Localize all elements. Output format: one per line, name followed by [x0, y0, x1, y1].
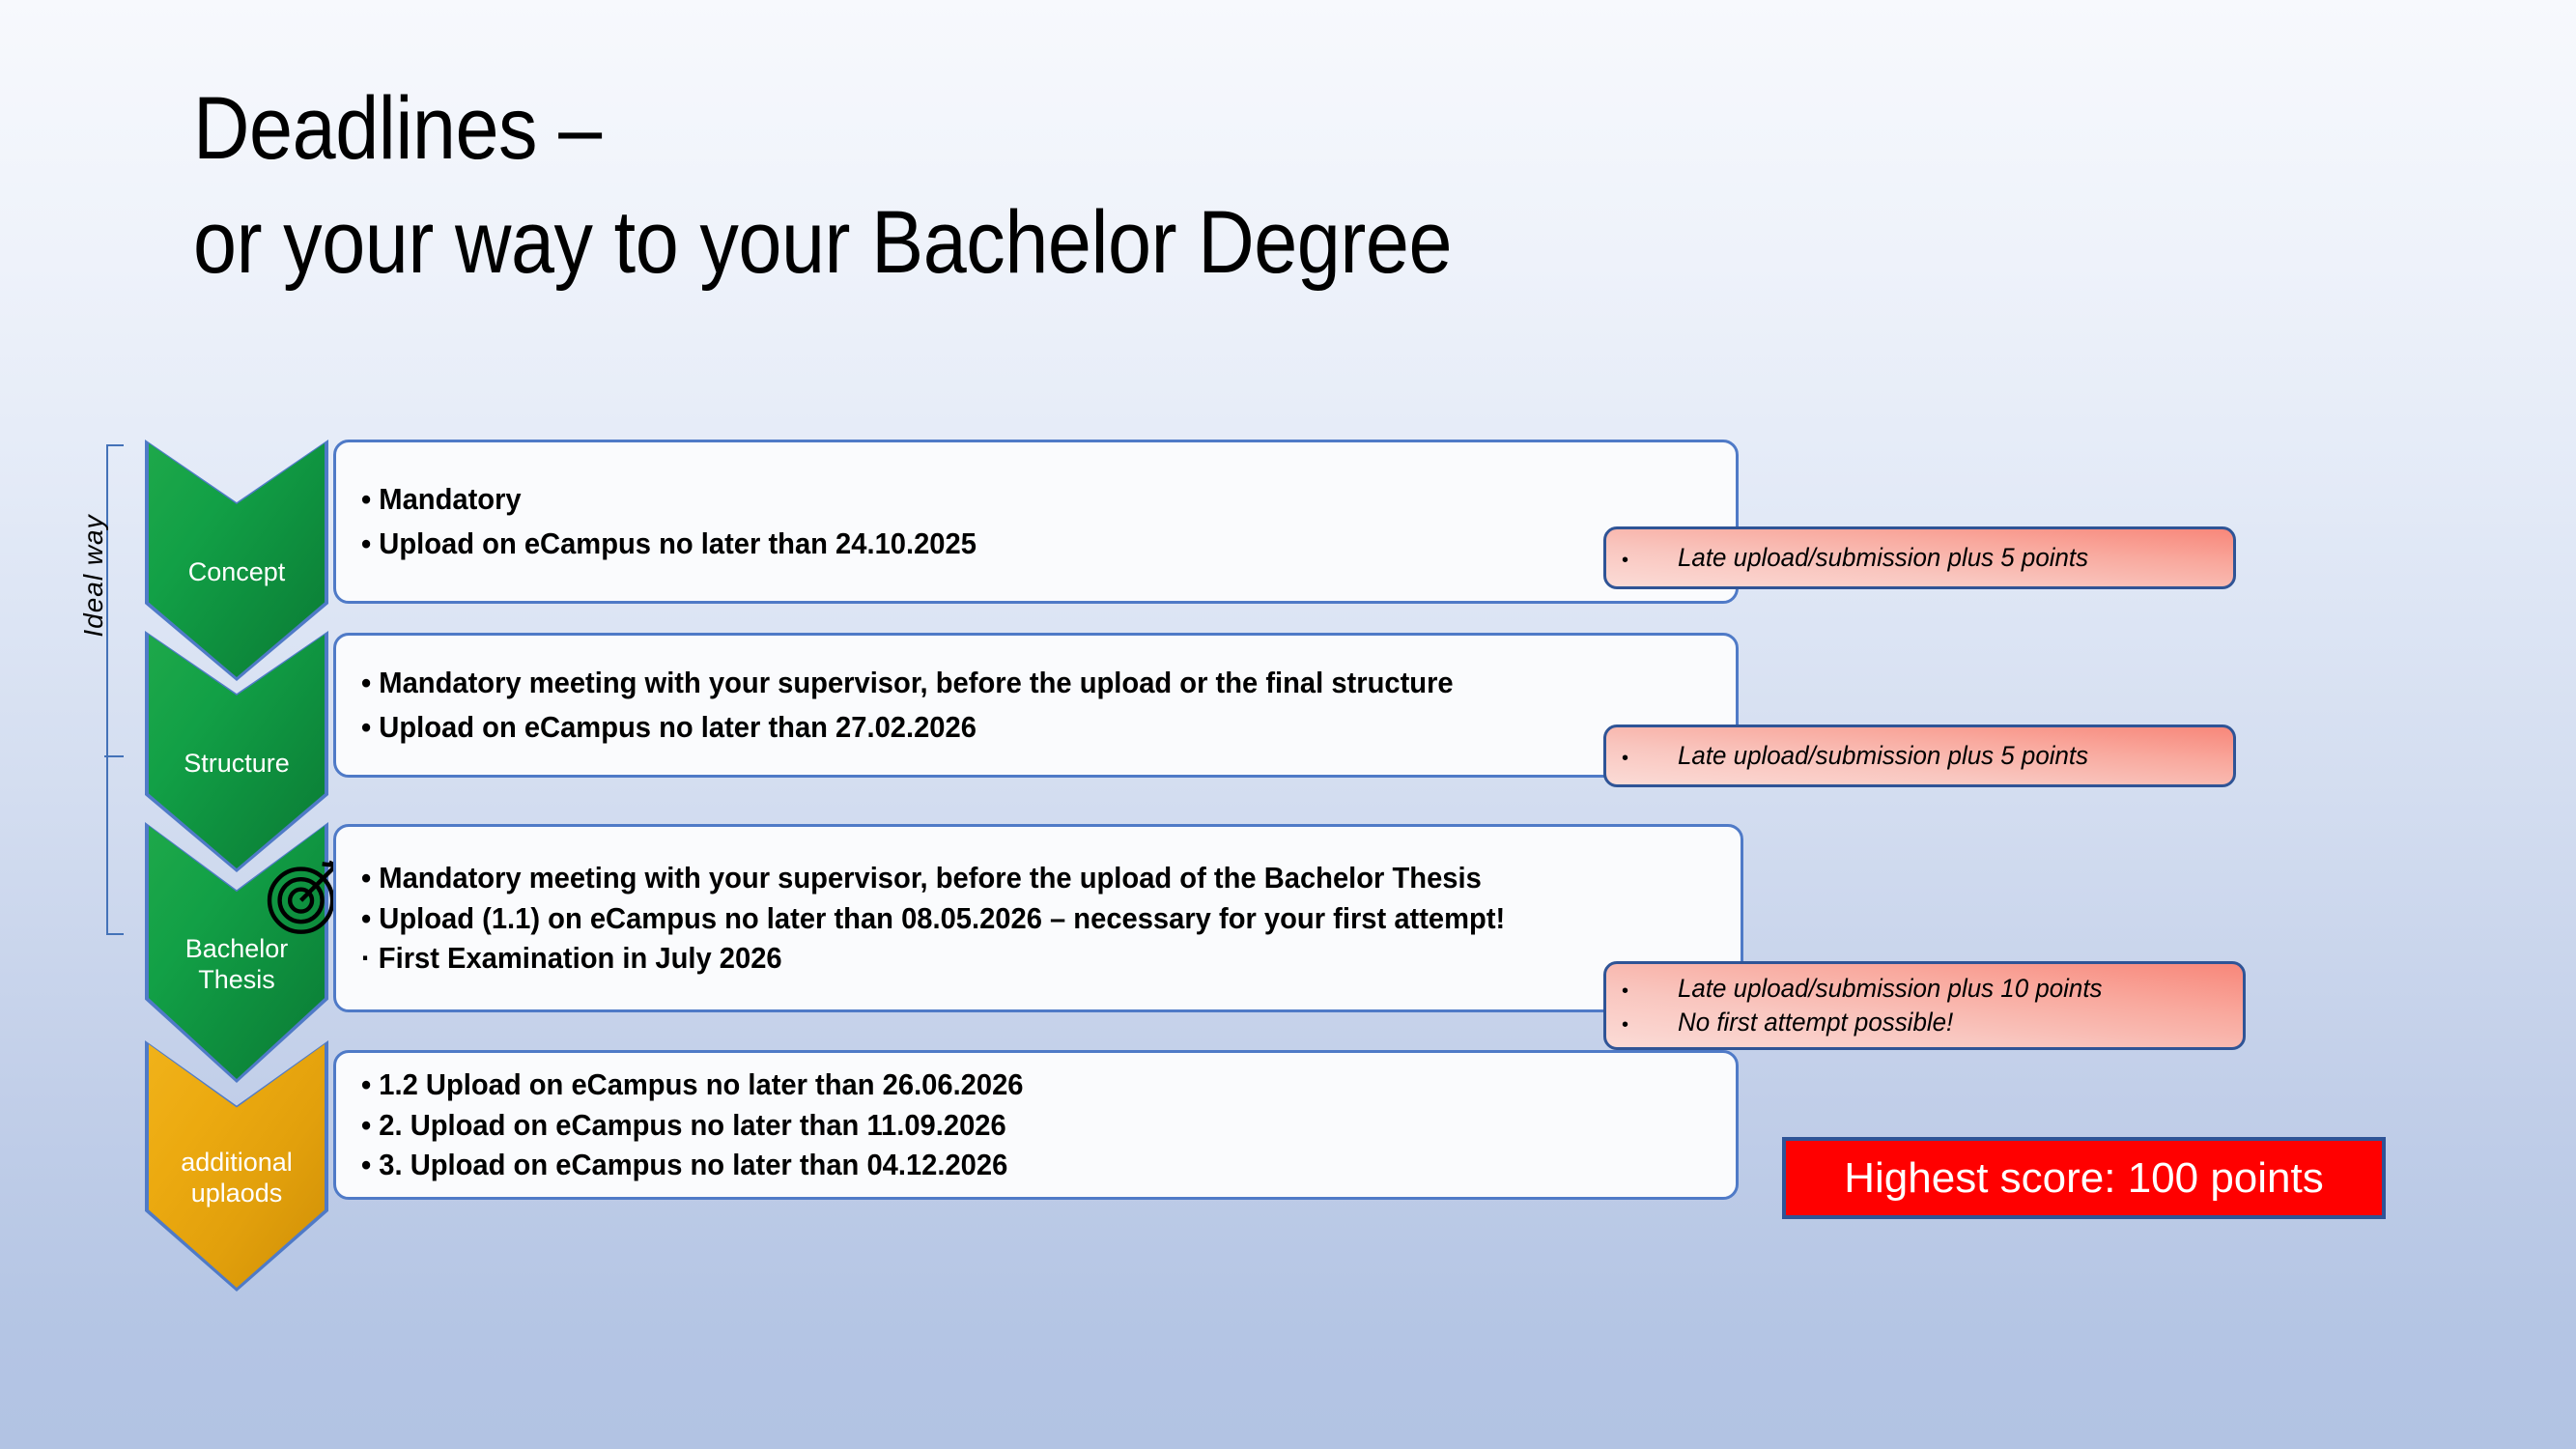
stage-content-box-concept: • Mandatory • Upload on eCampus no later… — [333, 440, 1739, 604]
stage-chevron-concept[interactable]: Concept — [149, 443, 325, 677]
stage-bullet: · First Examination in July 2026 — [361, 940, 1634, 977]
stage-content-box-bachelor-thesis: • Mandatory meeting with your supervisor… — [333, 824, 1743, 1012]
callout-line: • Late upload/submission plus 10 points — [1622, 972, 2229, 1006]
highest-score-badge: Highest score: 100 points — [1782, 1137, 2386, 1219]
late-penalty-callout-bachelor-thesis: • Late upload/submission plus 10 points … — [1603, 961, 2246, 1050]
callout-text: Late upload/submission plus 5 points — [1678, 739, 2088, 773]
callout-text: Late upload/submission plus 5 points — [1678, 541, 2088, 575]
stage-label-concept: Concept — [188, 557, 286, 588]
stage-content-box-additional-uploads: • 1.2 Upload on eCampus no later than 26… — [333, 1050, 1739, 1200]
slide-canvas: Deadlines – or your way to your Bachelor… — [0, 0, 2576, 1449]
stage-bullet: • Upload (1.1) on eCampus no later than … — [361, 900, 1634, 937]
callout-text: Late upload/submission plus 10 points — [1678, 972, 2103, 1006]
bullet-icon: • — [1622, 1012, 1678, 1037]
late-penalty-callout-structure: • Late upload/submission plus 5 points — [1603, 724, 2236, 787]
stage-bullet: • Upload on eCampus no later than 27.02.… — [361, 709, 1629, 746]
stage-content-box-structure: • Mandatory meeting with your supervisor… — [333, 633, 1739, 778]
stage-bullet: • Mandatory — [361, 481, 1629, 518]
stage-bullet: • 1.2 Upload on eCampus no later than 26… — [361, 1066, 1629, 1103]
ideal-way-bracket-tick — [104, 755, 124, 757]
stage-bullet: • Upload on eCampus no later than 24.10.… — [361, 526, 1629, 562]
stage-bullet: • 2. Upload on eCampus no later than 11.… — [361, 1107, 1629, 1144]
callout-line: • Late upload/submission plus 5 points — [1622, 541, 2220, 575]
bullet-icon: • — [1622, 746, 1678, 771]
callout-line: • Late upload/submission plus 5 points — [1622, 739, 2220, 773]
stage-label-bachelor-thesis: Bachelor Thesis — [185, 934, 289, 996]
late-penalty-callout-concept: • Late upload/submission plus 5 points — [1603, 526, 2236, 589]
stage-bullet: • Mandatory meeting with your supervisor… — [361, 665, 1629, 701]
stage-label-structure: Structure — [184, 749, 290, 780]
stage-bullet: • Mandatory meeting with your supervisor… — [361, 860, 1634, 896]
callout-line: • No first attempt possible! — [1622, 1006, 2229, 1039]
page-title: Deadlines – or your way to your Bachelor… — [193, 72, 1893, 300]
ideal-way-label: Ideal way — [78, 450, 109, 701]
bullet-icon: • — [1622, 548, 1678, 573]
stage-bullet: • 3. Upload on eCampus no later than 04.… — [361, 1147, 1629, 1183]
bullet-icon: • — [1622, 979, 1678, 1004]
callout-text: No first attempt possible! — [1678, 1006, 1953, 1039]
highest-score-text: Highest score: 100 points — [1844, 1154, 2324, 1203]
stage-label-additional-uploads: additional uplaods — [181, 1148, 293, 1209]
